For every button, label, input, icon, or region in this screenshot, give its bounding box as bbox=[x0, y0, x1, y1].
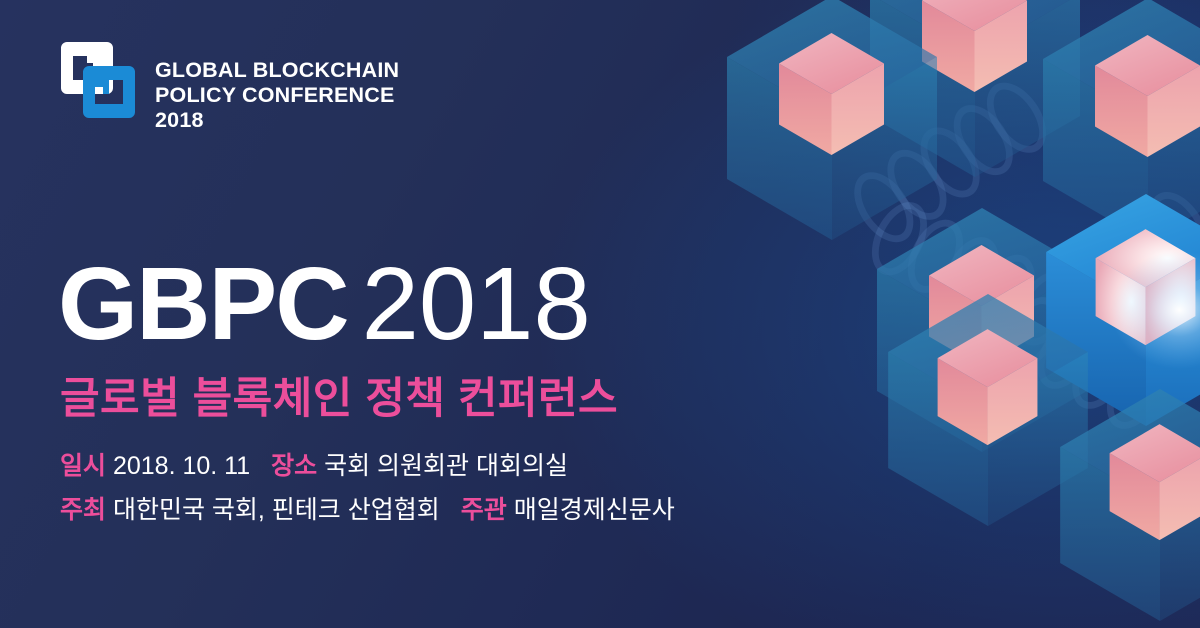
chain-link bbox=[975, 72, 1058, 164]
chain-link bbox=[1104, 203, 1186, 295]
chain-link bbox=[861, 193, 938, 284]
detail-line-date-venue: 일시 2018. 10. 11 장소 국회 의원회관 대회의실 bbox=[60, 444, 675, 488]
cube-lower-right bbox=[1060, 389, 1200, 621]
chain-link bbox=[897, 211, 974, 302]
detail-label-organizer: 주관 bbox=[461, 496, 507, 524]
interlocking-blocks-logo-icon bbox=[57, 36, 139, 124]
chain-link bbox=[933, 228, 1010, 319]
cube-upper-left bbox=[727, 0, 937, 240]
logo-line-1: GLOBAL BLOCKCHAIN bbox=[155, 58, 399, 83]
chain-link bbox=[1005, 263, 1082, 354]
detail-value-date: 2018. 10. 11 bbox=[113, 452, 250, 480]
chain-link bbox=[842, 161, 925, 253]
chain-right bbox=[1036, 170, 1200, 330]
cube-upper-right bbox=[1043, 0, 1200, 242]
logo-wordmark: GLOBAL BLOCKCHAIN POLICY CONFERENCE 2018 bbox=[155, 36, 399, 133]
chain-link bbox=[1026, 307, 1107, 399]
logo-line-2: POLICY CONFERENCE bbox=[155, 83, 399, 108]
event-details: 일시 2018. 10. 11 장소 국회 의원회관 대회의실 주최 대한민국 … bbox=[60, 444, 675, 532]
chain-link bbox=[1095, 347, 1176, 439]
conference-poster: GLOBAL BLOCKCHAIN POLICY CONFERENCE 2018… bbox=[0, 0, 1200, 628]
cube-glow-right bbox=[1046, 194, 1200, 426]
chain-link bbox=[875, 139, 958, 231]
subtitle: 글로벌 블록체인 정책 컨퍼런스 bbox=[60, 364, 618, 426]
detail-line-host-organizer: 주최 대한민국 국회, 핀테크 산업협회 주관 매일경제신문사 bbox=[60, 488, 675, 532]
chain-link bbox=[969, 246, 1046, 337]
chain-link bbox=[1138, 182, 1200, 274]
chain-link bbox=[908, 117, 991, 209]
detail-value-organizer: 매일경제신문사 bbox=[514, 496, 675, 524]
conference-logo: GLOBAL BLOCKCHAIN POLICY CONFERENCE 2018 bbox=[57, 36, 399, 133]
detail-label-date: 일시 bbox=[60, 452, 106, 480]
detail-label-venue: 장소 bbox=[271, 452, 317, 480]
chain-mid bbox=[864, 193, 1101, 357]
detail-value-host: 대한민국 국회, 핀테크 산업협회 bbox=[113, 496, 440, 524]
chain-link bbox=[1061, 327, 1142, 419]
chain-link bbox=[1070, 224, 1152, 316]
page-title: GBPC2018 bbox=[58, 252, 591, 355]
chain-lower bbox=[995, 287, 1195, 443]
logo-line-3: 2018 bbox=[155, 108, 399, 133]
chain-link bbox=[991, 287, 1072, 379]
cube-lower-left bbox=[888, 294, 1088, 526]
chain-link bbox=[1036, 245, 1118, 337]
chain-link bbox=[942, 94, 1025, 186]
cube-top-center bbox=[870, 0, 1080, 177]
chain-upper bbox=[842, 60, 1072, 247]
detail-label-host: 주최 bbox=[60, 496, 106, 524]
cube-mid-center bbox=[877, 208, 1087, 452]
title-year: 2018 bbox=[362, 246, 591, 361]
detail-value-venue: 국회 의원회관 대회의실 bbox=[324, 452, 568, 480]
title-acronym: GBPC bbox=[58, 246, 348, 361]
